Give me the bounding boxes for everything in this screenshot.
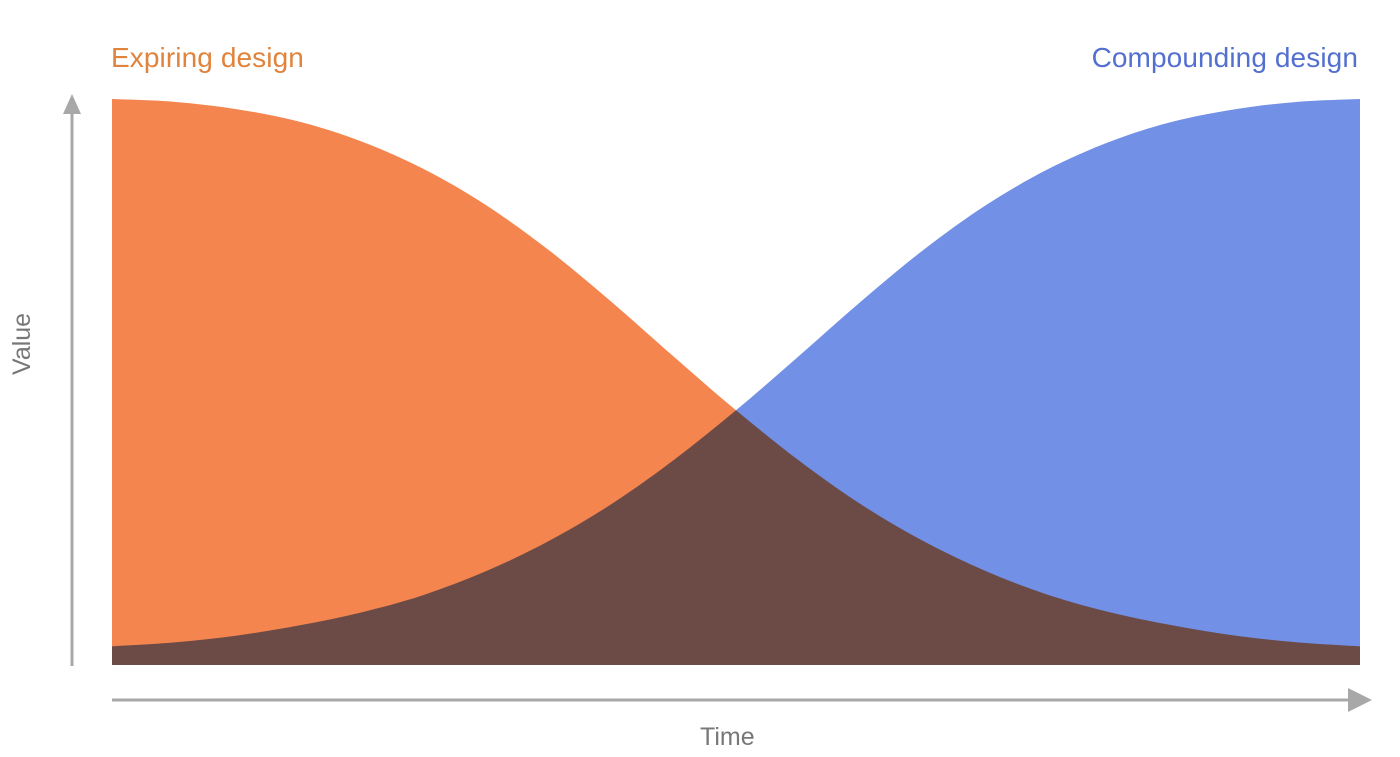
- x-axis-title: Time: [700, 725, 755, 750]
- y-axis-arrow-icon: [63, 94, 81, 114]
- chart-canvas: Expiring design Compounding design Value…: [0, 0, 1400, 757]
- plot-area: [0, 0, 1400, 757]
- y-axis-title: Value: [10, 313, 35, 375]
- x-axis-arrow-icon: [1348, 688, 1372, 712]
